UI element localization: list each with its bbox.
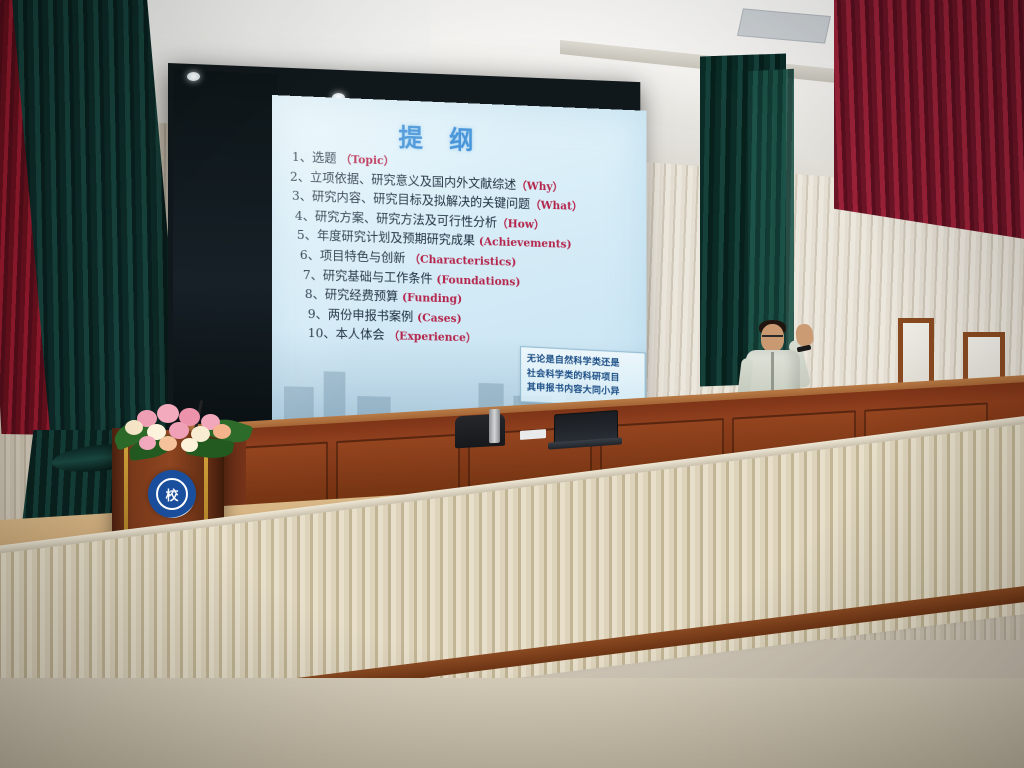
slide-title: 提 纲 — [399, 118, 483, 157]
projection-screen-shadowed-left — [173, 70, 278, 426]
thermos-flask — [489, 409, 500, 444]
projected-slide: 提 纲 1、选题 （Topic） 2、立项依据、研究意义及国内外文献综述（Why… — [272, 95, 647, 428]
paper-sheet — [520, 429, 546, 440]
speaker-glasses — [762, 335, 783, 342]
screen-lamp-left — [187, 72, 200, 81]
speaker-raised-hand — [795, 323, 815, 347]
red-curtain-right-fold — [944, 38, 1024, 240]
slide-outline-list: 1、选题 （Topic） 2、立项依据、研究意义及国内外文献综述（Why） 3、… — [286, 151, 646, 356]
emblem-inner: 校 — [156, 478, 188, 510]
auditorium-floor — [0, 678, 1024, 768]
slide-item-10: 10、本人体会 （Experience） — [308, 327, 646, 348]
podium-flower-arrangement — [113, 392, 251, 458]
auditorium-photo: 提 纲 1、选题 （Topic） 2、立项依据、研究意义及国内外文献综述（Why… — [0, 0, 1024, 768]
university-emblem-icon: 校 — [148, 470, 196, 518]
